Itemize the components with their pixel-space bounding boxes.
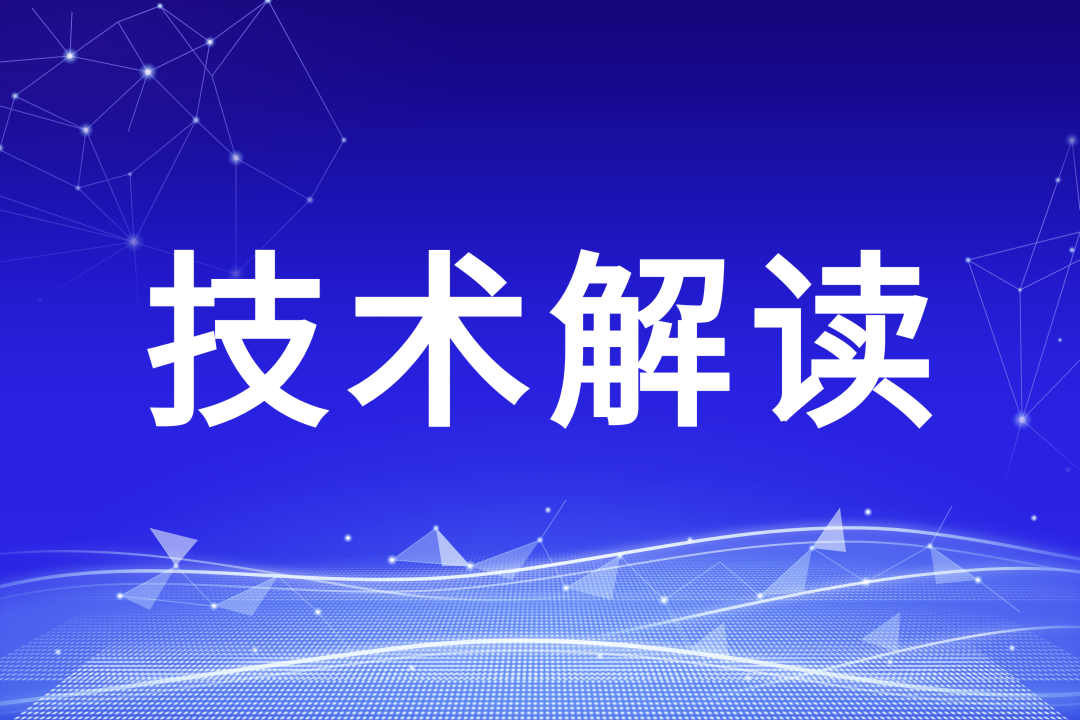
tech-banner: 技术解读	[0, 0, 1080, 720]
banner-title-wrap: 技术解读	[0, 252, 1080, 438]
banner-title: 技术解读	[128, 252, 952, 438]
particle-wave	[0, 422, 1080, 720]
particle-wave-band-near	[0, 640, 1080, 720]
